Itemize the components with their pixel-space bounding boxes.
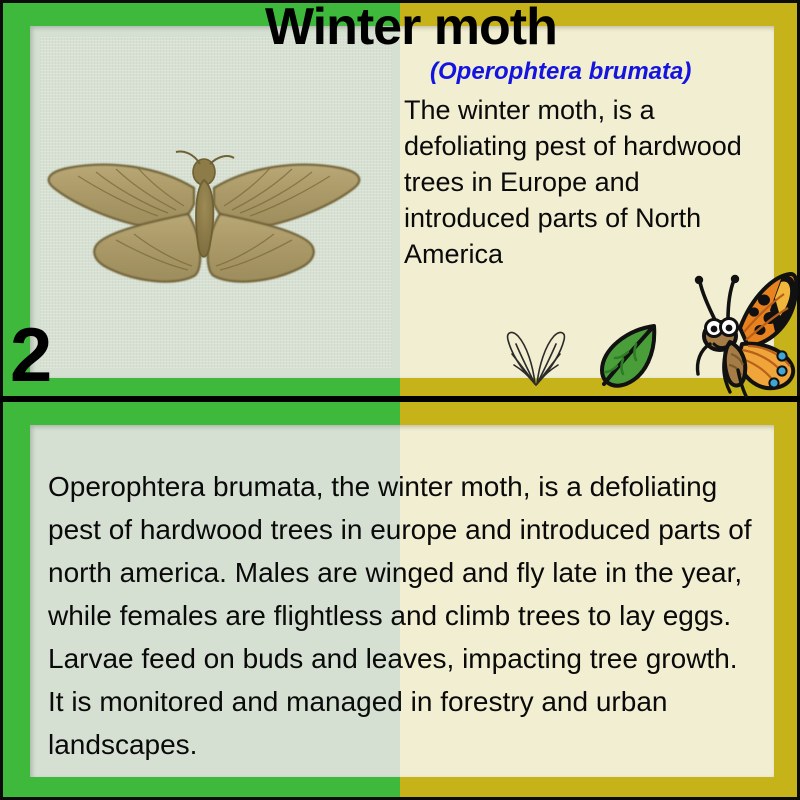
page-number: 2 [10, 318, 52, 394]
page-title: Winter moth [265, 0, 665, 56]
insect-wings-sketch-icon [500, 318, 572, 388]
summary-text: The winter moth, is a defoliating pest o… [404, 92, 756, 272]
scientific-name: (Operophtera brumata) [430, 58, 760, 86]
moth-photograph [40, 36, 392, 368]
butterfly-icon [678, 270, 798, 398]
bottom-panel: Operophtera brumata, the winter moth, is… [30, 425, 774, 777]
moth-illustration [40, 136, 368, 306]
description-text: Operophtera brumata, the winter moth, is… [48, 465, 758, 766]
decorative-icon-strip [500, 300, 795, 400]
species-info-card: Winter moth (Operophtera brumata) The wi… [0, 0, 800, 800]
leaf-icon [590, 318, 670, 398]
